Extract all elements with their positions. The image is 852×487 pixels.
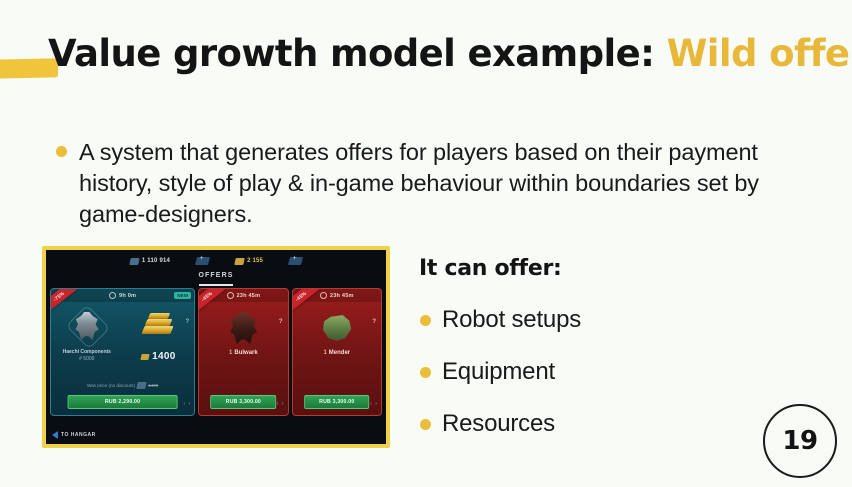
list-item-label: Robot setups (442, 306, 581, 334)
gold-bars-icon (136, 306, 180, 346)
list-item-label: Equipment (442, 358, 555, 386)
gold-currency-icon (234, 258, 244, 265)
robot-name: Mender (329, 350, 350, 356)
game-screenshot-frame: 1 110 914 2 155 OFFERS -75% 9h 0m NEW (42, 246, 390, 448)
game-topbar: 1 110 914 2 155 (46, 250, 386, 272)
bullet-dot-icon (420, 367, 431, 378)
offers-list: Robot setups Equipment Resources (420, 294, 581, 450)
slide-title-block: Value growth model example: Wild offers (0, 32, 852, 102)
to-hangar-button[interactable]: TO HANGAR (52, 431, 96, 439)
clock-icon (109, 292, 116, 299)
reward-item-qty: # 5000 (52, 356, 121, 362)
bullet-dot-icon (56, 146, 67, 157)
list-item: Robot setups (420, 294, 581, 346)
buy-button[interactable]: RUB 3,300.00 (211, 395, 277, 409)
silver-currency-value: 1 110 914 (142, 258, 170, 264)
offer-card-bulwark[interactable]: -45% 23h 45m ? 1Bulwark RU (198, 288, 288, 416)
list-item-label: Resources (442, 410, 555, 438)
robot-name-row: 1Bulwark (199, 350, 287, 356)
tab-active-underline (199, 284, 233, 286)
gold-reward-value: 1400 (152, 351, 175, 362)
add-silver-button[interactable] (195, 257, 210, 265)
page-number-badge: 19 (763, 404, 837, 478)
reward-item-gold: 1400 (124, 306, 193, 362)
list-item: Resources (420, 398, 581, 450)
back-arrow-icon (52, 431, 58, 439)
card-pager-arrows[interactable]: ‹ › (183, 401, 191, 407)
buy-button[interactable]: RUB 3,300.00 (304, 395, 370, 409)
reward-item-name: Haechi Components (52, 349, 121, 356)
robot-name-row: 1Mender (293, 350, 381, 356)
lead-bullet-row: A system that generates offers for playe… (56, 137, 824, 230)
gold-currency-value: 2 155 (247, 258, 263, 264)
add-gold-button[interactable] (288, 257, 303, 265)
robot-art-wrap (293, 308, 381, 348)
gold-currency-icon (141, 354, 150, 360)
page-title: Value growth model example: Wild offers (48, 32, 852, 75)
robot-art-wrap (199, 308, 287, 348)
to-hangar-label: TO HANGAR (61, 432, 96, 438)
gold-currency: 2 155 (235, 258, 263, 265)
bullet-dot-icon (420, 315, 431, 326)
gold-currency-icon (136, 382, 146, 389)
green-robot-icon (315, 308, 359, 348)
original-price-label: Was price (no discount) (87, 383, 135, 388)
mech-icon (65, 306, 109, 346)
clock-icon (227, 292, 234, 299)
offer-card-resource[interactable]: -75% 9h 0m NEW ? Haec (50, 288, 195, 416)
tab-offers[interactable]: OFFERS (46, 272, 386, 279)
offer-cards-row: -75% 9h 0m NEW ? Haec (50, 288, 382, 416)
silver-currency: 1 110 914 (130, 258, 170, 265)
lead-paragraph: A system that generates offers for playe… (79, 137, 824, 230)
card-pager-arrows[interactable]: ‹ › (370, 401, 378, 407)
title-main-text: Value growth model example: (48, 32, 654, 75)
offer-timer: 9h 0m (119, 293, 136, 299)
offers-heading: It can offer: (419, 256, 562, 281)
list-item: Equipment (420, 346, 581, 398)
silver-currency-icon (129, 258, 139, 265)
offer-timer: 23h 45m (330, 293, 354, 299)
offer-timer: 23h 45m (237, 293, 261, 299)
robot-level: 1 (323, 350, 326, 356)
clock-icon (320, 292, 327, 299)
gold-reward-amount: 1400 (124, 351, 193, 362)
card-body: ? Haechi Components # 5000 (51, 302, 194, 415)
reward-items: Haechi Components # 5000 1400 (51, 306, 194, 362)
info-help-icon[interactable]: ? (279, 319, 283, 325)
bullet-dot-icon (420, 419, 431, 430)
title-accent-text: Wild offers (667, 32, 852, 75)
card-body: ? 1Mender RUB 3,300.00 ‹ › (293, 302, 381, 415)
red-robot-icon (221, 308, 265, 348)
page-number: 19 (782, 426, 817, 456)
original-price-line: Was price (no discount) 4400 (51, 382, 194, 389)
robot-level: 1 (229, 350, 232, 356)
buy-button[interactable]: RUB 2,290.00 (67, 395, 178, 409)
reward-item-components: Haechi Components # 5000 (52, 306, 121, 362)
robot-name: Bulwark (234, 350, 257, 356)
card-body: ? 1Bulwark RUB 3,300.00 ‹ › (199, 302, 287, 415)
offer-card-mender[interactable]: -45% 23h 45m ? 1Mender RUB (292, 288, 382, 416)
original-price-value: 4400 (148, 383, 158, 388)
card-pager-arrows[interactable]: ‹ › (277, 401, 285, 407)
info-help-icon[interactable]: ? (186, 319, 190, 325)
info-help-icon[interactable]: ? (372, 319, 376, 325)
new-badge: NEW (174, 292, 191, 299)
game-screenshot: 1 110 914 2 155 OFFERS -75% 9h 0m NEW (46, 250, 386, 444)
